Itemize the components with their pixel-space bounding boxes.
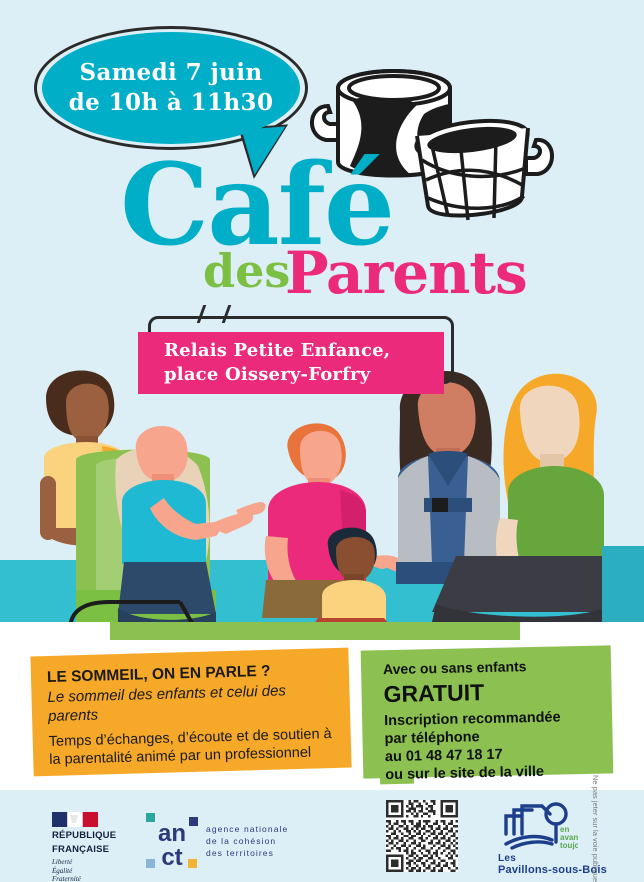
poster-canvas: Samedi 7 juin de 10h à 11h30 Café des Pa… — [0, 0, 644, 882]
anct-text-2: de la cohésion — [206, 835, 288, 847]
location-line-1: Relais Petite Enfance, — [164, 339, 444, 363]
page-title-parents: Parents — [285, 244, 527, 302]
location-banner: Relais Petite Enfance, place Oissery-For… — [138, 332, 444, 394]
topic-box: LE SOMMEIL, ON EN PARLE ? Le sommeil des… — [30, 648, 351, 777]
topic-subtitle: Le sommeil des enfants et celui des pare… — [47, 680, 336, 726]
date-line-2: de 10h à 11h30 — [69, 88, 274, 118]
anct-logo: an ct agence nationale de la cohésion de… — [146, 810, 326, 872]
anct-mark-icon: an ct — [146, 813, 198, 869]
french-flag-icon — [52, 812, 98, 827]
motto-egalite: Égalité — [52, 867, 136, 876]
anct-text-block: agence nationale de la cohésion des terr… — [206, 823, 288, 859]
print-disclaimer: Ne pas jeter sur la voie publique — [591, 775, 600, 882]
page-title-des: des — [203, 248, 290, 294]
motto-liberte: Liberté — [52, 858, 136, 867]
city-emblem-icon: en avant toujours — [498, 800, 578, 852]
location-line-2: place Oissery-Forfry — [164, 363, 444, 387]
motto-fraternite: Fraternité — [52, 875, 136, 882]
info-audience: Avec ou sans enfants — [383, 656, 599, 679]
person-standing-cardigan — [396, 371, 502, 584]
svg-text:an: an — [158, 820, 186, 847]
people-illustration — [0, 350, 644, 650]
info-box: Avec ou sans enfants GRATUIT Inscription… — [361, 645, 614, 778]
anct-text-3: des territoires — [206, 847, 288, 859]
date-line-1: Samedi 7 juin — [79, 58, 262, 88]
chair-right — [602, 546, 644, 630]
anct-text-1: agence nationale — [206, 823, 288, 835]
date-speech-bubble: Samedi 7 juin de 10h à 11h30 — [42, 32, 300, 144]
svg-text:toujours: toujours — [560, 841, 578, 850]
svg-text:ct: ct — [161, 844, 182, 869]
info-price: GRATUIT — [383, 676, 600, 709]
republique-line-1: RÉPUBLIQUE — [52, 830, 136, 841]
qr-code[interactable] — [386, 800, 458, 872]
republique-line-2: FRANÇAISE — [52, 844, 136, 855]
topic-body: Temps d’échanges, d’écoute et de soutien… — [49, 725, 338, 769]
republique-francaise-logo: RÉPUBLIQUE FRANÇAISE Liberté Égalité Fra… — [52, 812, 136, 874]
